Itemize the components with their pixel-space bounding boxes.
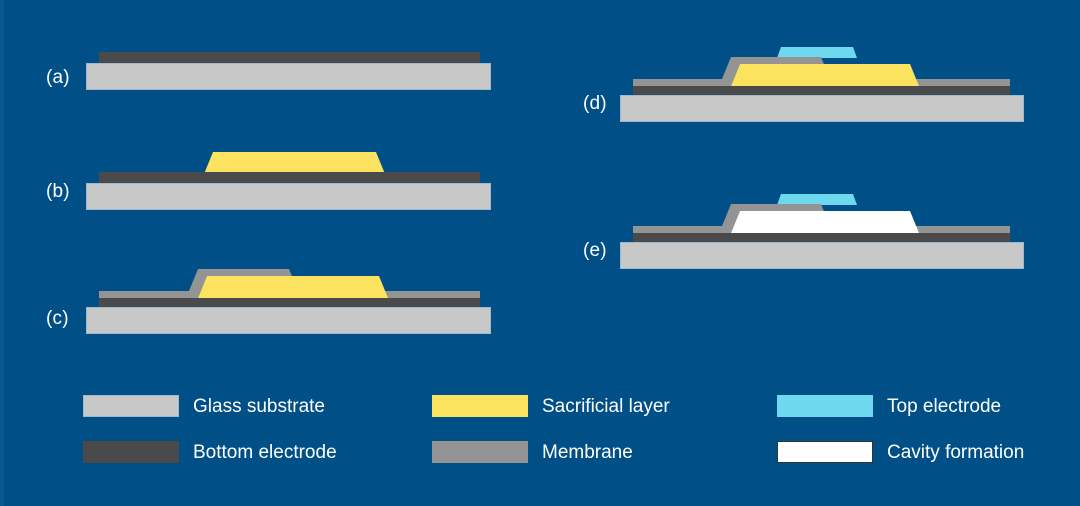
step-c-bottom-electrode bbox=[99, 298, 480, 307]
step-label-b: (b) bbox=[46, 182, 70, 201]
step-label-c: (c) bbox=[46, 309, 69, 328]
legend-label-sacrificial-layer: Sacrificial layer bbox=[542, 397, 670, 416]
step-a-bottom-electrode bbox=[99, 52, 480, 63]
fabrication-process-diagram: (a) (b) (c) (d) bbox=[0, 0, 1080, 506]
step-e-bottom-electrode bbox=[633, 233, 1010, 242]
step-d-glass-substrate bbox=[620, 95, 1024, 122]
membrane-swatch bbox=[432, 441, 528, 463]
glass-substrate-swatch bbox=[83, 395, 179, 417]
step-d-sacrificial-layer bbox=[731, 64, 919, 86]
legend-label-top-electrode: Top electrode bbox=[887, 397, 1001, 416]
step-label-e: (e) bbox=[583, 241, 607, 260]
step-d-top-electrode bbox=[777, 47, 857, 58]
step-label-a: (a) bbox=[46, 68, 70, 87]
legend-label-cavity-formation: Cavity formation bbox=[887, 443, 1024, 462]
legend-item-sacrificial-layer: Sacrificial layer bbox=[432, 395, 670, 417]
step-a-glass-substrate bbox=[86, 63, 491, 90]
step-e-glass-substrate bbox=[620, 242, 1024, 269]
top-electrode-swatch bbox=[777, 395, 873, 417]
legend-label-membrane: Membrane bbox=[542, 443, 633, 462]
canvas-edge-strip bbox=[0, 0, 4, 506]
step-e-top-electrode bbox=[777, 194, 857, 205]
sacrificial-layer-swatch bbox=[432, 395, 528, 417]
legend-label-bottom-electrode: Bottom electrode bbox=[193, 443, 337, 462]
legend-item-membrane: Membrane bbox=[432, 441, 633, 463]
step-b-sacrificial-layer bbox=[204, 152, 385, 174]
step-c-sacrificial-layer bbox=[198, 276, 388, 298]
legend-item-top-electrode: Top electrode bbox=[777, 395, 1001, 417]
step-b-glass-substrate bbox=[86, 183, 491, 210]
step-label-d: (d) bbox=[583, 94, 607, 113]
bottom-electrode-swatch bbox=[83, 441, 179, 463]
step-e-cavity bbox=[731, 211, 919, 233]
step-b-bottom-electrode bbox=[99, 172, 480, 183]
cavity-formation-swatch bbox=[777, 441, 873, 463]
step-c-glass-substrate bbox=[86, 307, 491, 334]
legend-item-glass-substrate: Glass substrate bbox=[83, 395, 325, 417]
step-d-bottom-electrode bbox=[633, 86, 1010, 95]
legend-item-cavity-formation: Cavity formation bbox=[777, 441, 1024, 463]
legend-label-glass-substrate: Glass substrate bbox=[193, 397, 325, 416]
legend-item-bottom-electrode: Bottom electrode bbox=[83, 441, 337, 463]
